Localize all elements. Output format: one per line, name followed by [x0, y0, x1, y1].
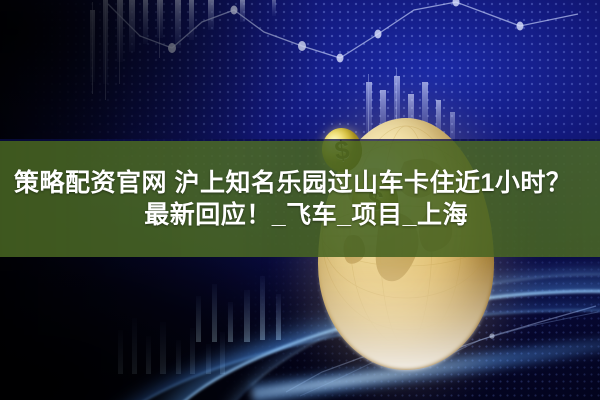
- headline-line-2: 最新回应！_飞车_项目_上海: [14, 199, 586, 231]
- news-thumbnail-banner: $ $ 策略配资官网 沪上知名乐园过山车卡住近1小时？ 最新回应！_飞车_项目_…: [0, 0, 600, 400]
- headline-line-1: 策略配资官网 沪上知名乐园过山车卡住近1小时？: [14, 167, 586, 199]
- headline-text-block: 策略配资官网 沪上知名乐园过山车卡住近1小时？ 最新回应！_飞车_项目_上海: [0, 141, 600, 257]
